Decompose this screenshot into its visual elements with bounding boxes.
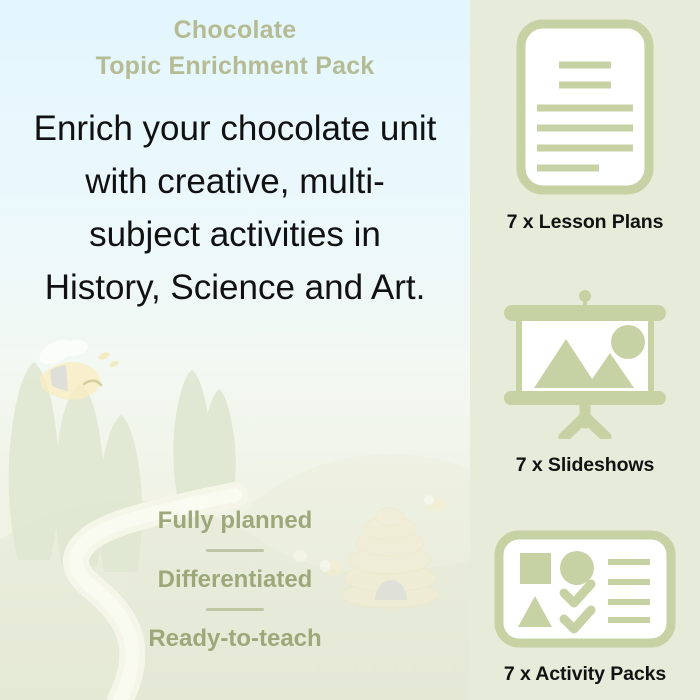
feature-item-ready-to-teach: Ready-to-teach	[0, 624, 470, 654]
sidebar-item-label: 7 x Lesson Plans	[507, 211, 664, 234]
document-icon	[515, 18, 655, 201]
activity-card-icon	[494, 530, 676, 653]
left-panel: Chocolate Topic Enrichment Pack Enrich y…	[0, 0, 470, 700]
contents-sidebar: 7 x Lesson Plans	[470, 0, 700, 700]
sidebar-item-lesson-plans[interactable]: 7 x Lesson Plans	[507, 18, 664, 234]
feature-item-differentiated: Differentiated	[0, 565, 470, 595]
pack-topic-title: Chocolate	[0, 12, 470, 48]
sidebar-item-label: 7 x Activity Packs	[504, 663, 666, 686]
presentation-screen-icon	[494, 287, 676, 444]
feature-list: Fully planned Differentiated Ready-to-te…	[0, 506, 470, 700]
poster: Chocolate Topic Enrichment Pack Enrich y…	[0, 0, 700, 700]
sidebar-item-slideshows[interactable]: 7 x Slideshows	[494, 287, 676, 477]
title-block: Chocolate Topic Enrichment Pack	[0, 0, 470, 84]
sidebar-item-activity-packs[interactable]: 7 x Activity Packs	[494, 530, 676, 686]
feature-divider	[206, 549, 264, 552]
feature-item-fully-planned: Fully planned	[0, 506, 470, 536]
pack-subtitle: Topic Enrichment Pack	[0, 48, 470, 84]
headline-text: Enrich your chocolate unit with creative…	[30, 102, 440, 314]
feature-divider	[206, 608, 264, 611]
sidebar-item-label: 7 x Slideshows	[516, 454, 654, 477]
